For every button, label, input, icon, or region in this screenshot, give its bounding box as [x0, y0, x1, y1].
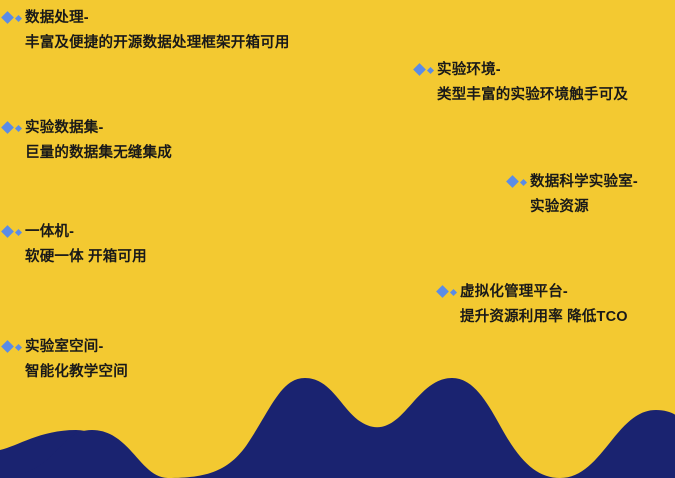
diamond-bullet-icon — [508, 172, 530, 194]
feature-item-lab-space: 实验室空间- 智能化教学空间 — [3, 335, 128, 385]
diamond-bullet-icon — [3, 118, 25, 140]
feature-title: 数据处理- — [25, 6, 290, 31]
diamond-bullet-icon — [3, 222, 25, 244]
feature-item-data-science-lab: 数据科学实验室- 实验资源 — [508, 170, 638, 220]
feature-item-experiment-dataset: 实验数据集- 巨量的数据集无缝集成 — [3, 116, 172, 166]
diamond-bullet-icon — [438, 282, 460, 304]
feature-description: 巨量的数据集无缝集成 — [25, 141, 172, 166]
feature-text: 实验数据集- 巨量的数据集无缝集成 — [25, 116, 172, 166]
feature-text: 一体机- 软硬一体 开箱可用 — [25, 220, 147, 270]
feature-description: 实验资源 — [530, 195, 638, 220]
feature-text: 实验室空间- 智能化教学空间 — [25, 335, 128, 385]
feature-item-data-processing: 数据处理- 丰富及便捷的开源数据处理框架开箱可用 — [3, 6, 290, 56]
feature-description: 类型丰富的实验环境触手可及 — [437, 83, 628, 108]
feature-title: 数据科学实验室- — [530, 170, 638, 195]
feature-description: 智能化教学空间 — [25, 360, 128, 385]
feature-text: 实验环境- 类型丰富的实验环境触手可及 — [437, 58, 628, 108]
feature-title: 实验室空间- — [25, 335, 128, 360]
diamond-bullet-icon — [3, 8, 25, 30]
diamond-bullet-icon — [415, 60, 437, 82]
feature-title: 虚拟化管理平台- — [460, 280, 628, 305]
feature-title: 实验数据集- — [25, 116, 172, 141]
feature-text: 数据处理- 丰富及便捷的开源数据处理框架开箱可用 — [25, 6, 290, 56]
feature-item-lab-environment: 实验环境- 类型丰富的实验环境触手可及 — [415, 58, 628, 108]
slide-canvas: 数据处理- 丰富及便捷的开源数据处理框架开箱可用 实验环境- 类型丰富的实验环境… — [0, 0, 675, 478]
feature-description: 提升资源利用率 降低TCO — [460, 305, 628, 330]
diamond-bullet-icon — [3, 337, 25, 359]
feature-description: 软硬一体 开箱可用 — [25, 245, 147, 270]
feature-title: 一体机- — [25, 220, 147, 245]
feature-description: 丰富及便捷的开源数据处理框架开箱可用 — [25, 31, 290, 56]
feature-item-all-in-one-machine: 一体机- 软硬一体 开箱可用 — [3, 220, 147, 270]
feature-item-virtualization-platform: 虚拟化管理平台- 提升资源利用率 降低TCO — [438, 280, 628, 330]
feature-text: 虚拟化管理平台- 提升资源利用率 降低TCO — [460, 280, 628, 330]
feature-text: 数据科学实验室- 实验资源 — [530, 170, 638, 220]
feature-title: 实验环境- — [437, 58, 628, 83]
